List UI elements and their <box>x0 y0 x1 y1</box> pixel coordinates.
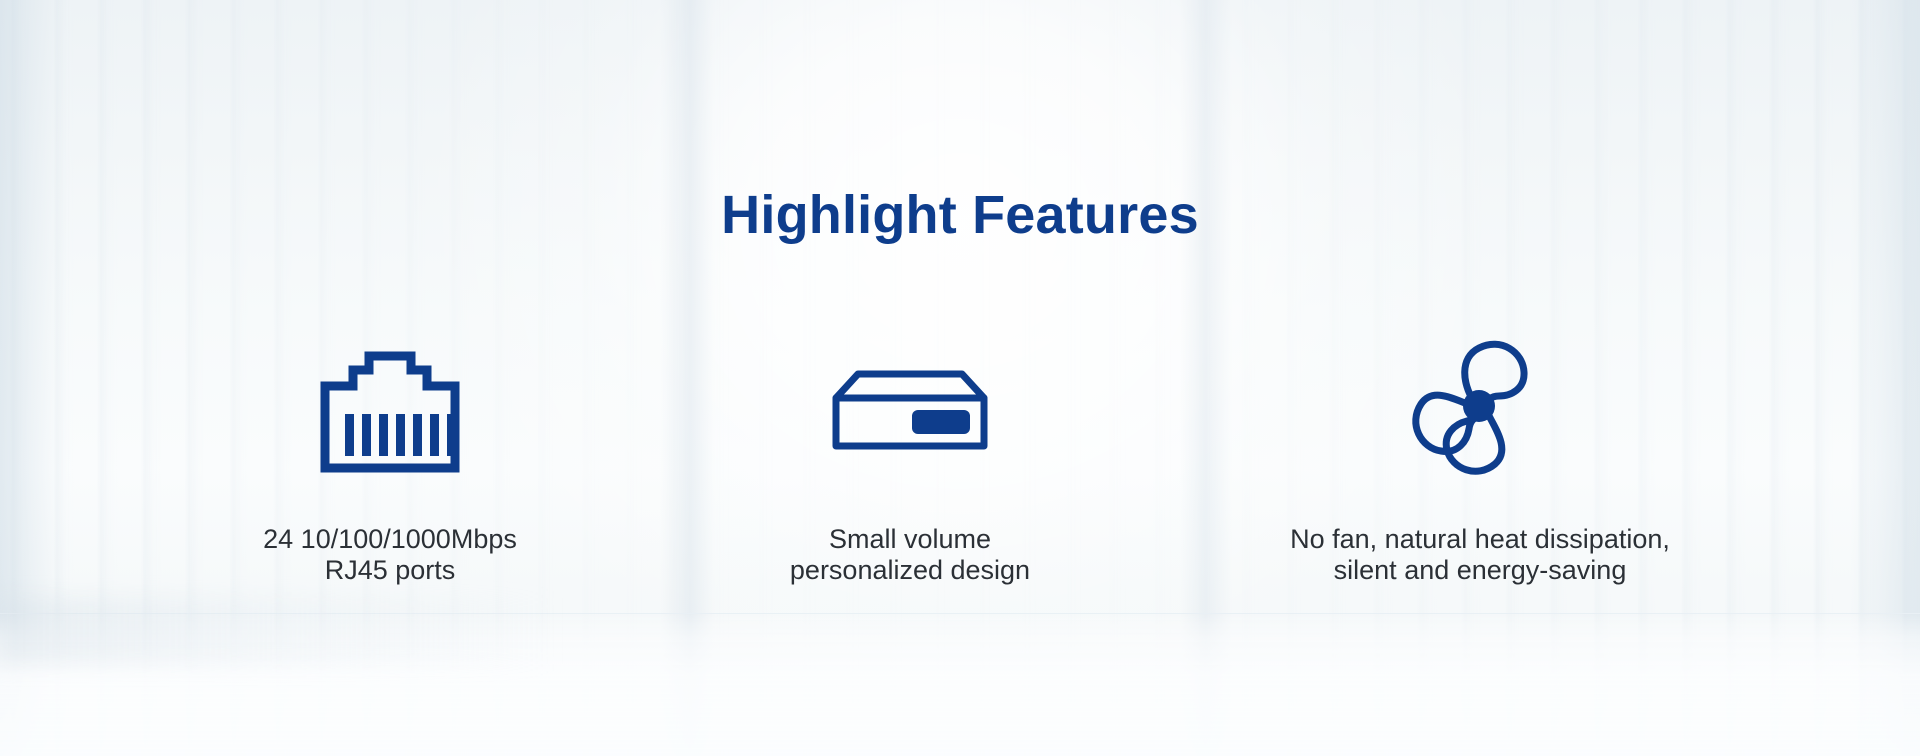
page-title: Highlight Features <box>0 188 1920 242</box>
network-switch-icon <box>830 330 990 490</box>
banner-content: Highlight Features <box>0 0 1920 756</box>
feature-caption: 24 10/100/1000Mbps RJ45 ports <box>263 524 517 587</box>
feature-caption: Small volume personalized design <box>790 524 1030 587</box>
fan-icon <box>1407 330 1553 490</box>
feature-item-fanless: No fan, natural heat dissipation, silent… <box>1220 330 1740 587</box>
feature-item-rj45-ports: 24 10/100/1000Mbps RJ45 ports <box>180 330 600 587</box>
highlight-features-banner: Highlight Features <box>0 0 1920 756</box>
rj45-port-icon <box>319 330 461 490</box>
feature-item-small-volume: Small volume personalized design <box>690 330 1130 587</box>
feature-caption: No fan, natural heat dissipation, silent… <box>1290 524 1670 587</box>
feature-list: 24 10/100/1000Mbps RJ45 ports Small volu… <box>180 330 1740 587</box>
